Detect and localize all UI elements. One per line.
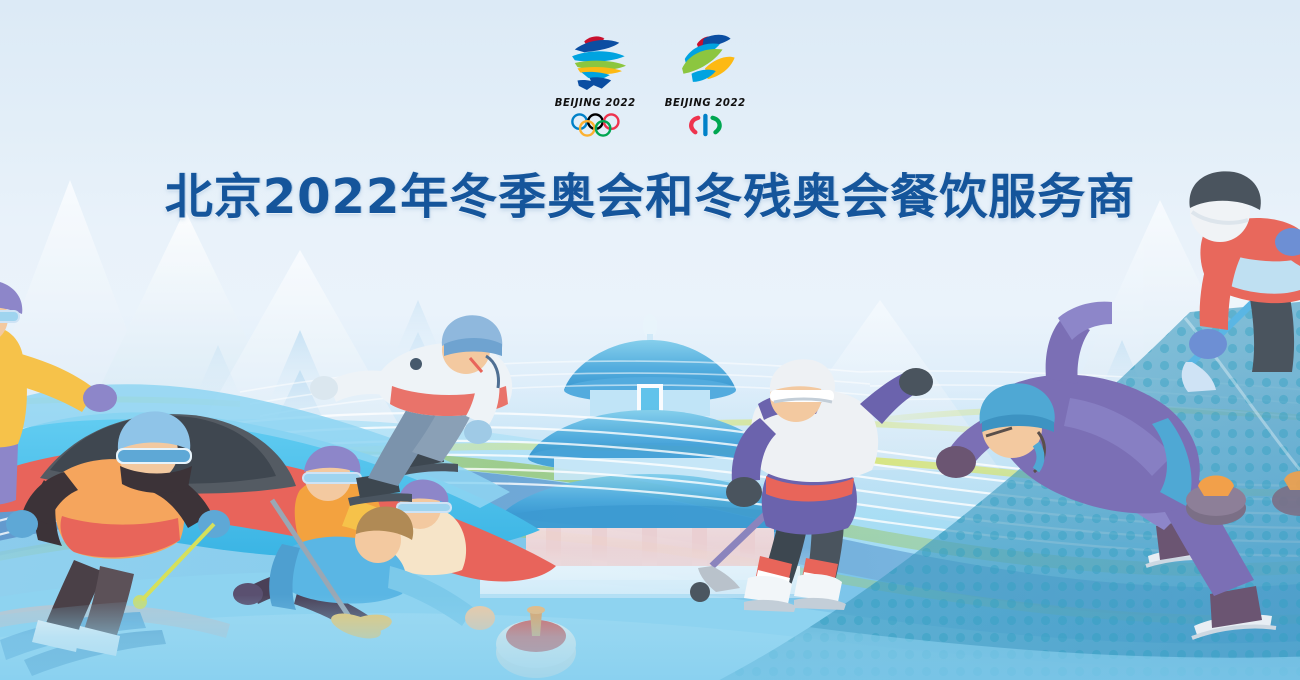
foreground-ice [0, 0, 1300, 680]
olympic-banner: BEIJING 2022 [0, 0, 1300, 680]
